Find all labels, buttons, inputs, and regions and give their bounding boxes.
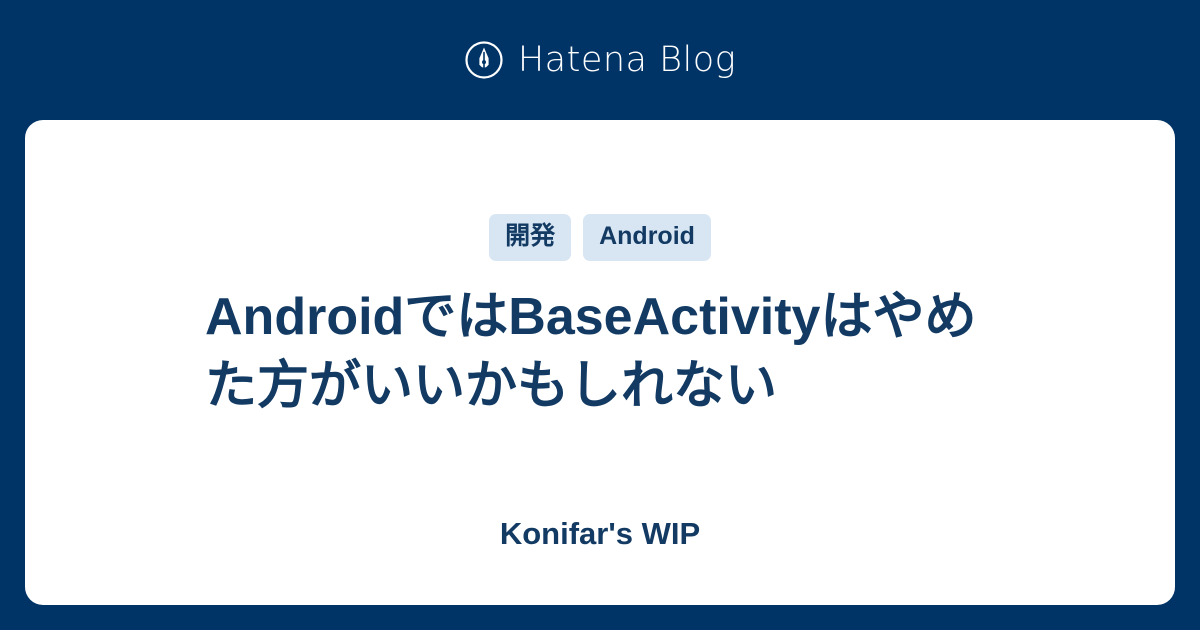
tag-chip-kaihatsu[interactable]: 開発 xyxy=(489,214,571,261)
tag-list: 開発 Android xyxy=(489,214,711,261)
entry-title: AndroidではBaseActivityはやめた方がいいかもしれない xyxy=(205,283,995,420)
hatena-blog-og-card: Hatena Blog 開発 Android AndroidではBaseActi… xyxy=(0,0,1200,630)
brand-header: Hatena Blog xyxy=(0,0,1200,120)
blog-name: Konifar's WIP xyxy=(25,518,1175,549)
tag-chip-android[interactable]: Android xyxy=(583,214,711,261)
hatena-pen-nib-icon xyxy=(464,40,504,80)
entry-card: 開発 Android AndroidではBaseActivityはやめた方がいい… xyxy=(25,120,1175,605)
brand-name: Hatena Blog xyxy=(518,43,736,78)
